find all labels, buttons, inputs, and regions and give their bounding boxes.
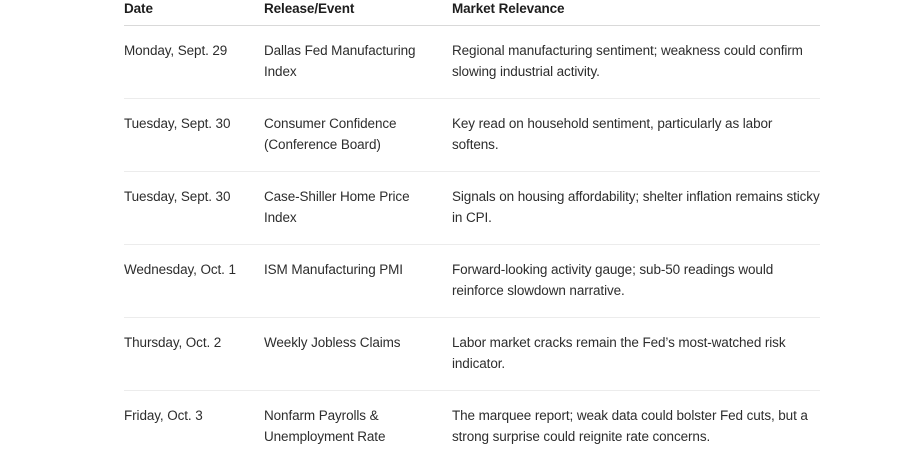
cell-release-event: Consumer Confidence (Conference Board) xyxy=(264,99,452,172)
table-header: Date Release/Event Market Relevance xyxy=(124,0,820,26)
cell-date: Wednesday, Oct. 1 xyxy=(124,245,264,318)
cell-market-relevance: Labor market cracks remain the Fed’s mos… xyxy=(452,318,820,391)
cell-date: Thursday, Oct. 2 xyxy=(124,318,264,391)
table-body: Monday, Sept. 29 Dallas Fed Manufacturin… xyxy=(124,26,820,463)
table-row: Thursday, Oct. 2 Weekly Jobless Claims L… xyxy=(124,318,820,391)
table-header-row: Date Release/Event Market Relevance xyxy=(124,0,820,26)
cell-release-event: Dallas Fed Manufacturing Index xyxy=(264,26,452,99)
table-row: Friday, Oct. 3 Nonfarm Payrolls & Unempl… xyxy=(124,391,820,463)
economic-calendar-table: Date Release/Event Market Relevance Mond… xyxy=(124,0,820,463)
cell-market-relevance: Key read on household sentiment, particu… xyxy=(452,99,820,172)
cell-release-event: ISM Manufacturing PMI xyxy=(264,245,452,318)
column-header-market-relevance: Market Relevance xyxy=(452,0,820,26)
table-row: Monday, Sept. 29 Dallas Fed Manufacturin… xyxy=(124,26,820,99)
column-header-date: Date xyxy=(124,0,264,26)
cell-market-relevance: The marquee report; weak data could bols… xyxy=(452,391,820,463)
cell-date: Tuesday, Sept. 30 xyxy=(124,172,264,245)
page-root: Date Release/Event Market Relevance Mond… xyxy=(0,0,909,404)
cell-date: Tuesday, Sept. 30 xyxy=(124,99,264,172)
cell-release-event: Weekly Jobless Claims xyxy=(264,318,452,391)
cell-date: Friday, Oct. 3 xyxy=(124,391,264,463)
table-row: Wednesday, Oct. 1 ISM Manufacturing PMI … xyxy=(124,245,820,318)
table-row: Tuesday, Sept. 30 Case-Shiller Home Pric… xyxy=(124,172,820,245)
cell-market-relevance: Regional manufacturing sentiment; weakne… xyxy=(452,26,820,99)
cell-market-relevance: Signals on housing affordability; shelte… xyxy=(452,172,820,245)
cell-release-event: Case-Shiller Home Price Index xyxy=(264,172,452,245)
cell-date: Monday, Sept. 29 xyxy=(124,26,264,99)
cell-market-relevance: Forward-looking activity gauge; sub-50 r… xyxy=(452,245,820,318)
column-header-release-event: Release/Event xyxy=(264,0,452,26)
table-row: Tuesday, Sept. 30 Consumer Confidence (C… xyxy=(124,99,820,172)
cell-release-event: Nonfarm Payrolls & Unemployment Rate xyxy=(264,391,452,463)
